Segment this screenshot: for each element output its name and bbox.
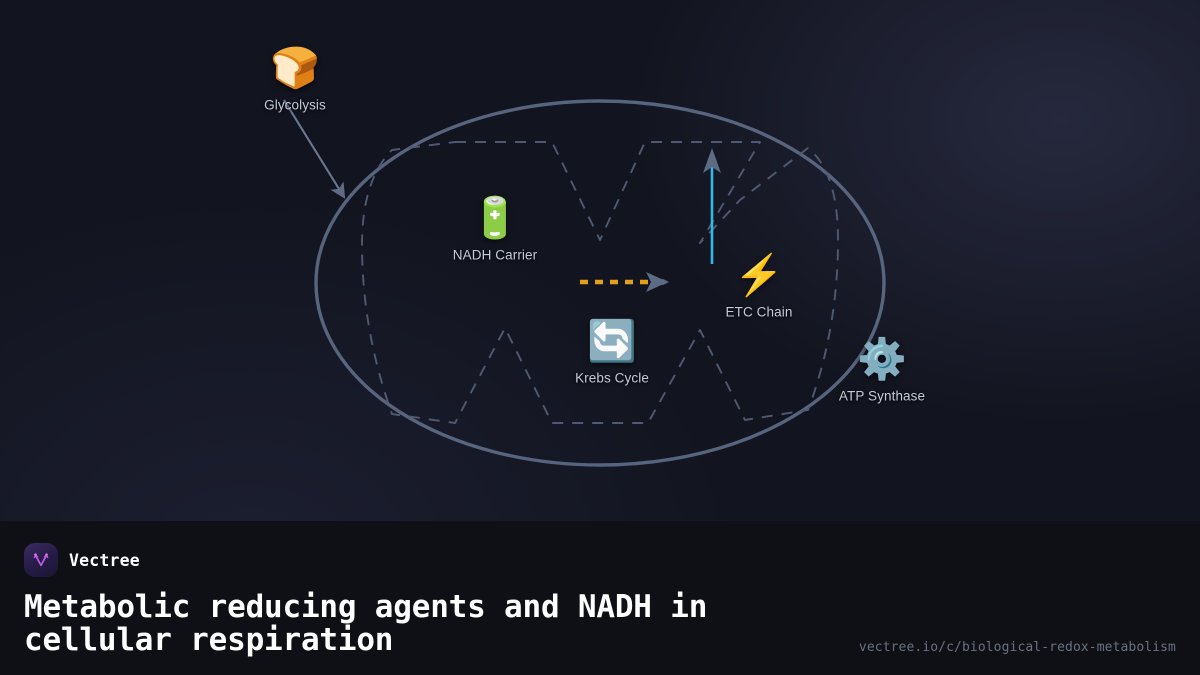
cycle-arrows-icon: 🔄 bbox=[587, 319, 637, 365]
vectree-logo-mark bbox=[30, 549, 52, 571]
node-nadh-carrier-label: NADH Carrier bbox=[453, 248, 537, 263]
lightning-bolt-icon: ⚡ bbox=[734, 253, 784, 299]
node-atp-synthase-label: ATP Synthase bbox=[839, 389, 925, 404]
node-krebs-cycle[interactable]: 🔄 Krebs Cycle bbox=[575, 319, 649, 386]
brand-name: Vectree bbox=[69, 551, 140, 570]
bread-icon: 🍞 bbox=[270, 46, 320, 92]
edge-glycolysis-to-mitochondrion bbox=[284, 100, 344, 197]
gear-icon: ⚙️ bbox=[857, 337, 907, 383]
diagram-canvas: 🍞 Glycolysis 🔋 NADH Carrier 🔄 Krebs Cycl… bbox=[0, 0, 1200, 521]
vectree-logo bbox=[24, 543, 58, 577]
diagram-svg bbox=[0, 0, 1200, 521]
node-krebs-cycle-label: Krebs Cycle bbox=[575, 371, 649, 386]
node-etc-chain[interactable]: ⚡ ETC Chain bbox=[726, 253, 793, 320]
node-nadh-carrier[interactable]: 🔋 NADH Carrier bbox=[453, 196, 537, 263]
node-etc-chain-label: ETC Chain bbox=[726, 305, 793, 320]
battery-icon: 🔋 bbox=[470, 196, 520, 242]
page-title: Metabolic reducing agents and NADH in ce… bbox=[24, 591, 834, 656]
node-glycolysis[interactable]: 🍞 Glycolysis bbox=[264, 46, 326, 113]
node-atp-synthase[interactable]: ⚙️ ATP Synthase bbox=[839, 337, 925, 404]
brand-row: Vectree bbox=[24, 543, 1176, 577]
footer-url: vectree.io/c/biological-redox-metabolism bbox=[859, 640, 1176, 655]
edge-krebs-to-etc-head bbox=[646, 272, 668, 292]
node-glycolysis-label: Glycolysis bbox=[264, 98, 326, 113]
footer: Vectree Metabolic reducing agents and NA… bbox=[0, 521, 1200, 675]
